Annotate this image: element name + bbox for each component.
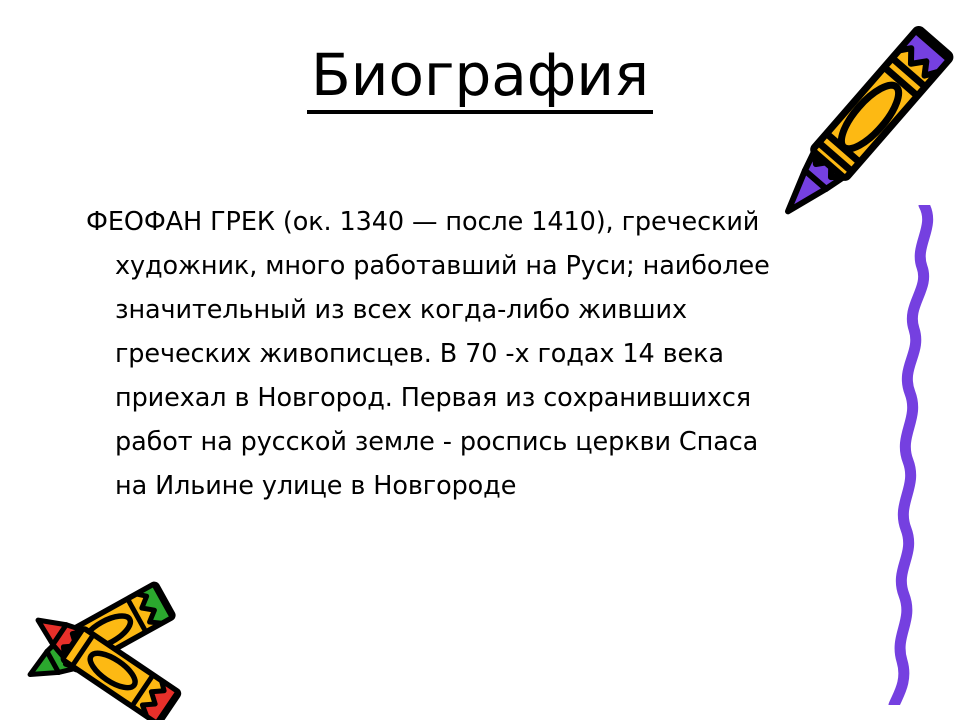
body-line: работ на русской земле - роспись церкви … xyxy=(86,420,886,464)
page-title-container: Биография xyxy=(0,46,960,114)
body-line: на Ильине улице в Новгороде xyxy=(86,464,886,508)
body-line: значительный из всех когда-либо живших xyxy=(86,288,886,332)
body-line: ФЕОФАН ГРЕК (ок. 1340 — после 1410), гре… xyxy=(86,200,886,244)
page-title: Биография xyxy=(307,46,653,114)
slide-canvas: Биография ФЕОФАН ГРЕК (ок. 1340 — после … xyxy=(0,0,960,720)
body-line: греческих живописцев. В 70 -х годах 14 в… xyxy=(86,332,886,376)
purple-squiggle-line-icon xyxy=(880,205,960,705)
green-crayon-icon xyxy=(21,583,174,691)
body-line: приехал в Новгород. Первая из сохранивши… xyxy=(86,376,886,420)
body-line: художник, много работавший на Руси; наиб… xyxy=(86,244,886,288)
crayon-pair-icon xyxy=(0,556,236,720)
body-text-block: ФЕОФАН ГРЕК (ок. 1340 — после 1410), гре… xyxy=(86,200,886,508)
red-crayon-icon xyxy=(27,604,179,720)
